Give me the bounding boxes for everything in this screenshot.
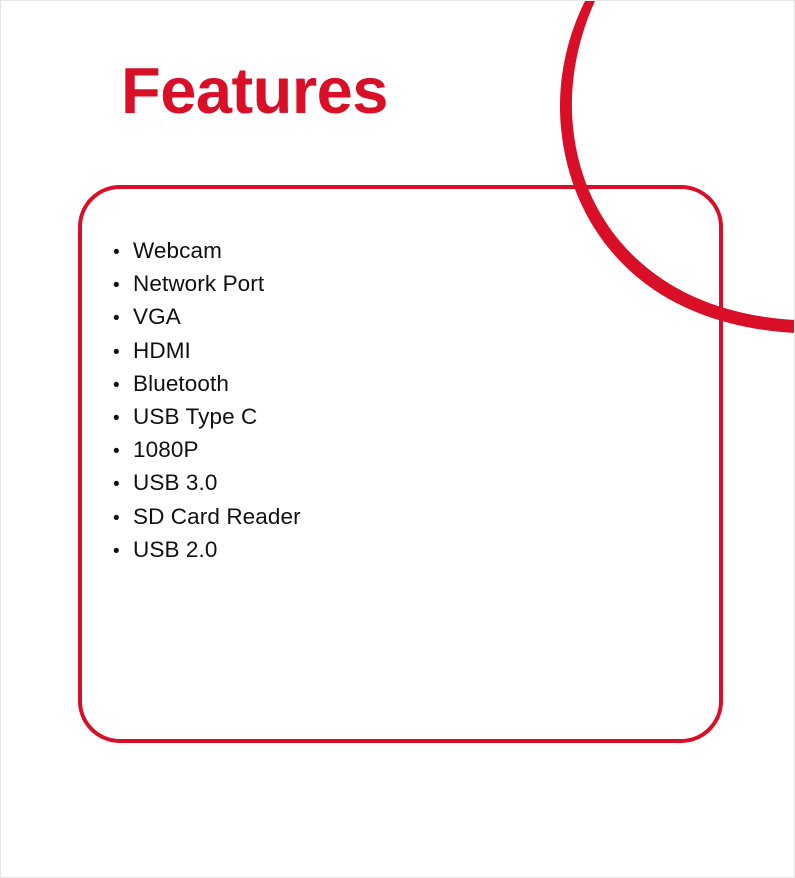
list-item-label: USB 2.0 [133,537,218,562]
list-item-label: Webcam [133,238,222,263]
bullet-icon: • [113,337,133,368]
list-item-label: HDMI [133,338,191,363]
list-item: •Webcam [113,235,301,268]
bullet-icon: • [113,403,133,434]
bullet-icon: • [113,436,133,467]
list-item: •VGA [113,301,301,334]
list-item-label: Network Port [133,271,264,296]
list-item-label: VGA [133,304,181,329]
bullet-icon: • [113,237,133,268]
bullet-icon: • [113,270,133,301]
slide-canvas: Features •Webcam •Network Port •VGA •HDM… [0,0,795,878]
feature-list: •Webcam •Network Port •VGA •HDMI •Blueto… [113,235,301,567]
list-item: •Network Port [113,268,301,301]
list-item: •1080P [113,434,301,467]
list-item: •Bluetooth [113,368,301,401]
list-item-label: 1080P [133,437,199,462]
list-item: •SD Card Reader [113,501,301,534]
list-item-label: USB 3.0 [133,470,218,495]
list-item: •USB 2.0 [113,534,301,567]
list-item-label: SD Card Reader [133,504,301,529]
page-title: Features [121,58,388,123]
bullet-icon: • [113,536,133,567]
list-item: •HDMI [113,335,301,368]
bullet-icon: • [113,469,133,500]
bullet-icon: • [113,503,133,534]
list-item-label: Bluetooth [133,371,229,396]
list-item: •USB Type C [113,401,301,434]
bullet-icon: • [113,370,133,401]
bullet-icon: • [113,303,133,334]
list-item: •USB 3.0 [113,467,301,500]
list-item-label: USB Type C [133,404,257,429]
